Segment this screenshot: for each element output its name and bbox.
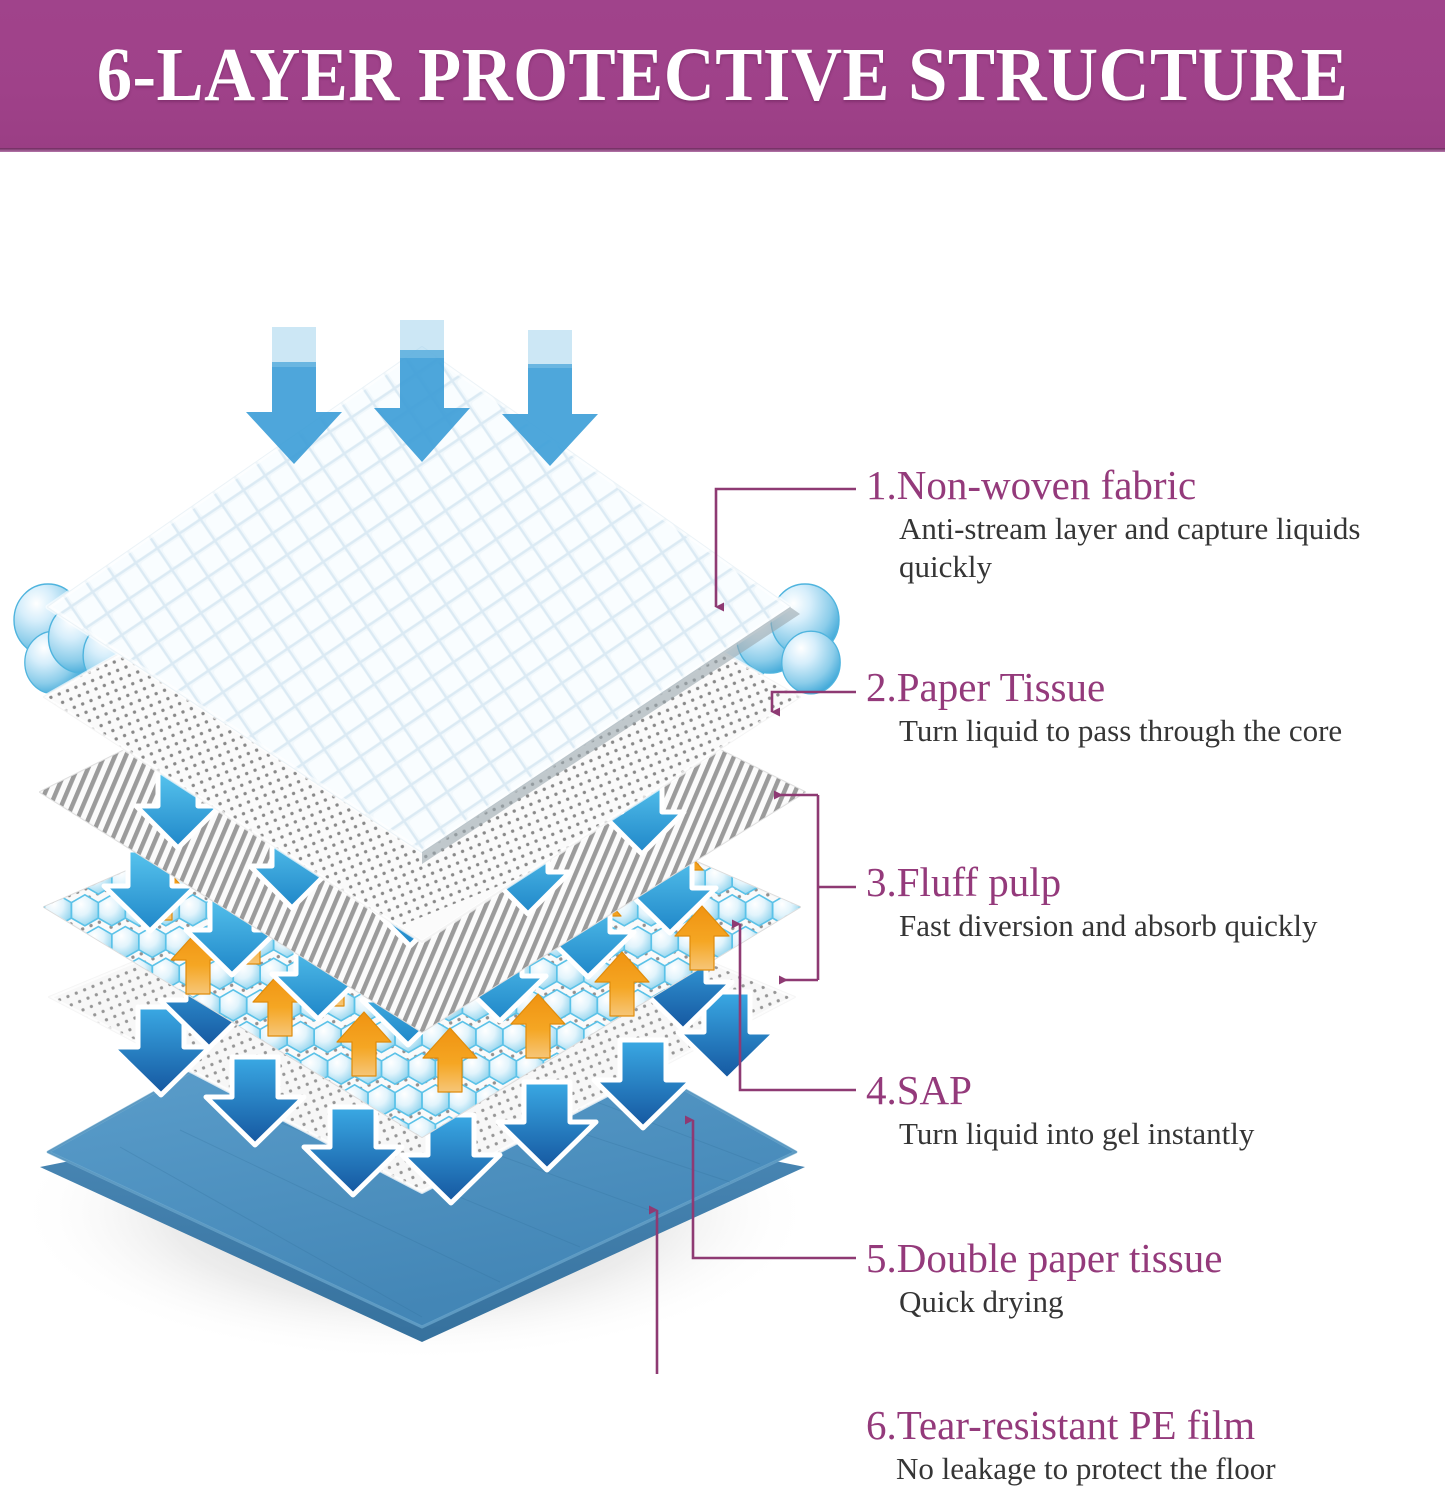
- callout-5-title: 5.Double paper tissue: [866, 1235, 1386, 1281]
- sap-gel-bead: [732, 927, 759, 958]
- callout-4-sap: 4.SAP Turn liquid into gel instantly: [866, 1067, 1386, 1153]
- sap-gel-bead: [382, 1053, 409, 1084]
- sap-gel-bead: [395, 1085, 422, 1116]
- callout-6-pe-film: 6.Tear-resistant PE film No leakage to p…: [866, 1402, 1386, 1488]
- callout-2-description: Turn liquid to pass through the core: [899, 712, 1369, 750]
- callout-3-fluff-pulp: 3.Fluff pulp Fast diversion and absorb q…: [866, 859, 1386, 945]
- sap-gel-bead: [85, 927, 112, 958]
- sap-gel-bead: [570, 990, 597, 1021]
- callout-4-description: Turn liquid into gel instantly: [899, 1115, 1369, 1153]
- sap-gel-bead: [314, 1022, 341, 1053]
- callout-2-title: 2.Paper Tissue: [866, 664, 1386, 710]
- sap-gel-bead: [220, 990, 247, 1021]
- callout-6-description: No leakage to protect the floor: [896, 1450, 1366, 1488]
- callout-3-title: 3.Fluff pulp: [866, 859, 1386, 905]
- callout-6-title: 6.Tear-resistant PE film: [866, 1402, 1386, 1448]
- sap-gel-bead: [746, 895, 773, 926]
- sap-gel-bead: [800, 895, 827, 926]
- sap-gel-bead: [490, 1053, 517, 1084]
- sap-gel-bead: [112, 927, 139, 958]
- exploded-layer-illustration: [0, 152, 1445, 1374]
- callout-2-paper-tissue: 2.Paper Tissue Turn liquid to pass throu…: [866, 664, 1386, 750]
- layer-diagram-stage: 1.Non-woven fabric Anti-stream layer and…: [0, 152, 1445, 1374]
- fluff-pulp-sphere: [782, 631, 840, 694]
- callout-4-title: 4.SAP: [866, 1067, 1386, 1113]
- callout-5-description: Quick drying: [899, 1283, 1319, 1321]
- callout-3-description: Fast diversion and absorb quickly: [899, 907, 1369, 945]
- sap-gel-bead: [476, 1022, 503, 1053]
- sap-gel-bead: [328, 1053, 355, 1084]
- incoming-liquid-arrows: [246, 320, 598, 466]
- sap-gel-bead: [72, 895, 99, 926]
- callout-5-double-paper-tissue: 5.Double paper tissue Quick drying: [866, 1235, 1386, 1321]
- leader-line-3: [775, 795, 856, 980]
- callout-1-title: 1.Non-woven fabric: [866, 462, 1386, 508]
- sap-gel-bead: [719, 895, 746, 926]
- page-title: 6-LAYER PROTECTIVE STRUCTURE: [51, 32, 1395, 118]
- callout-1-description: Anti-stream layer and capture liquids qu…: [899, 510, 1369, 586]
- callout-1-non-woven-fabric: 1.Non-woven fabric Anti-stream layer and…: [866, 462, 1386, 586]
- sap-gel-bead: [18, 895, 45, 926]
